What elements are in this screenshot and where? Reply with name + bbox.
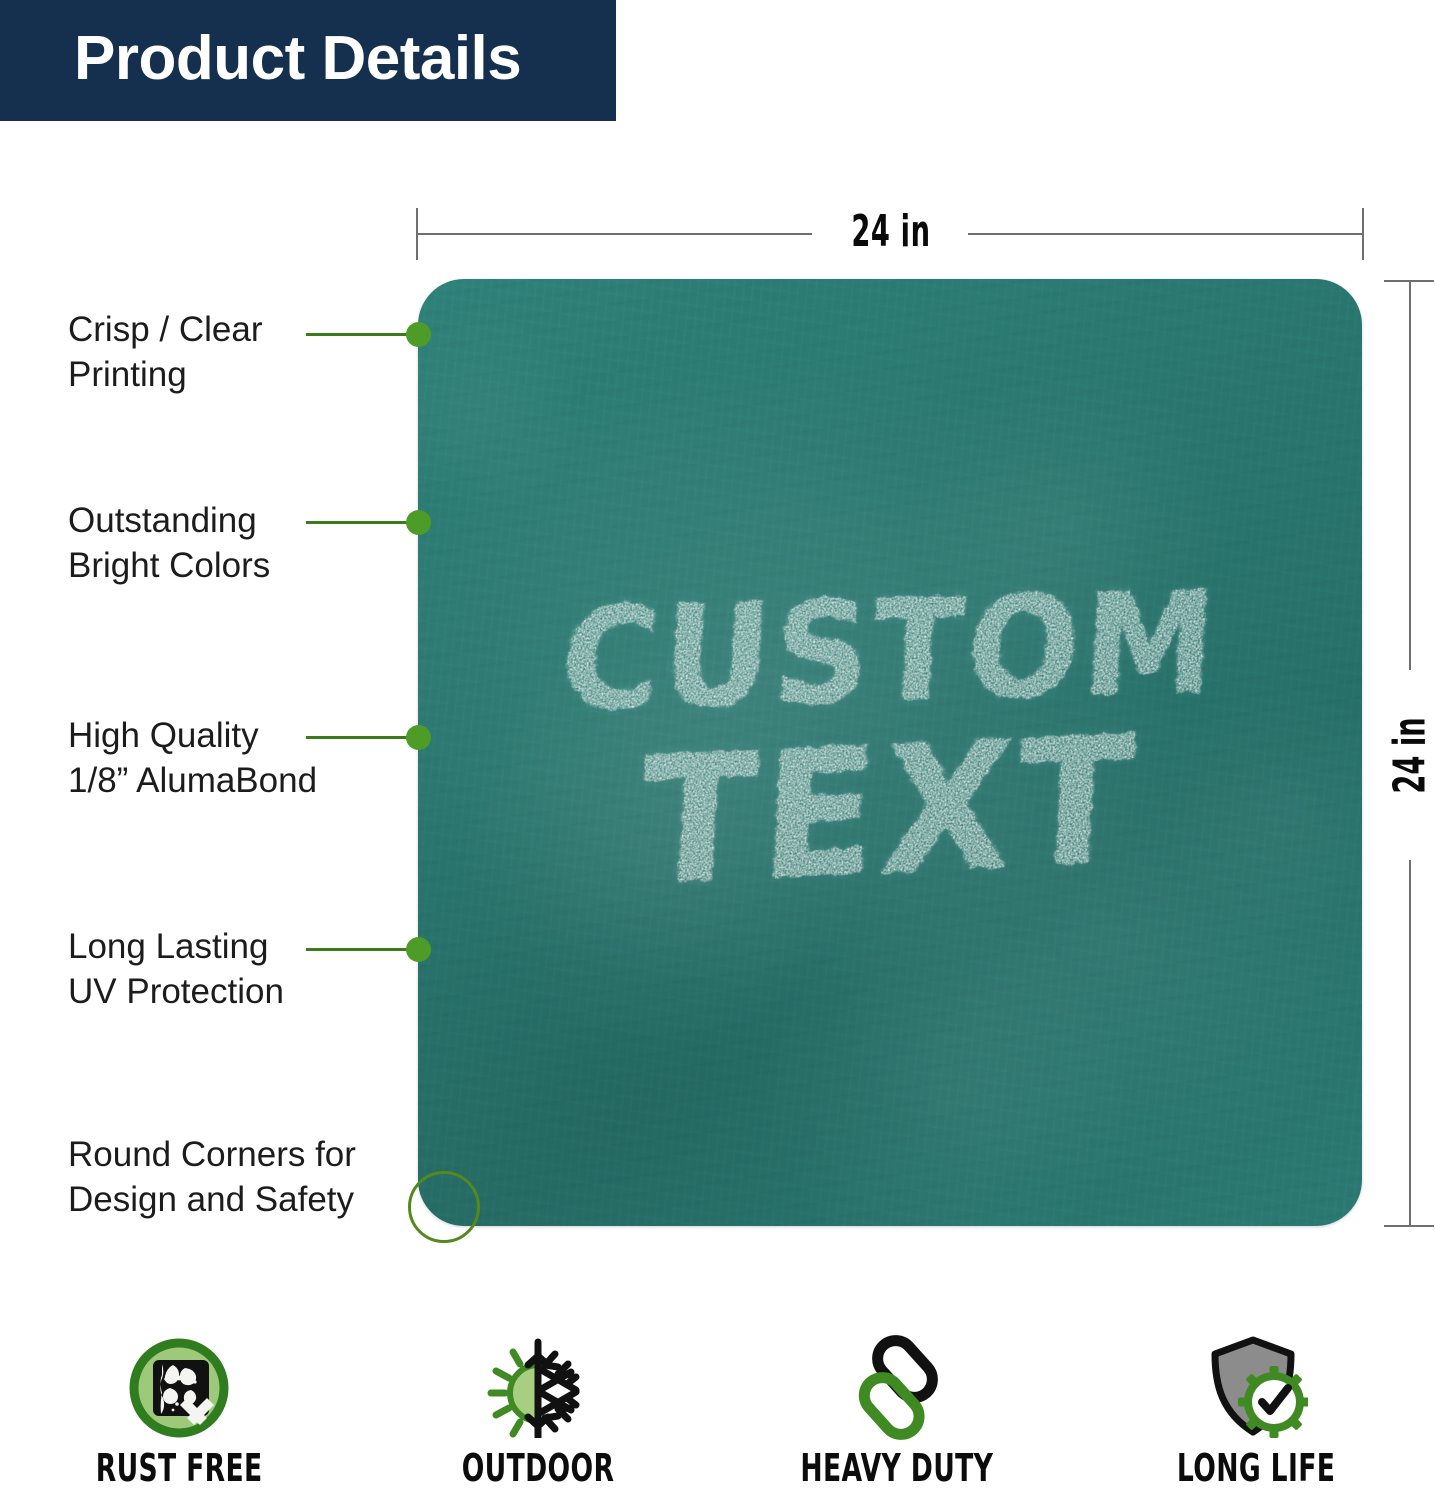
feature-label: HEAVY DUTY bbox=[800, 1446, 993, 1490]
feature-label: OUTDOOR bbox=[462, 1446, 615, 1490]
feature-rust-free: RUST FREE bbox=[0, 1335, 359, 1500]
callout-crisp-clear-printing: Crisp / Clear Printing bbox=[68, 308, 262, 398]
callout-outstanding-bright-colors: Outstanding Bright Colors bbox=[68, 499, 270, 589]
leader-line-3 bbox=[306, 736, 418, 739]
callout-label: Outstanding Bright Colors bbox=[68, 499, 270, 589]
round-corner-highlight-ring bbox=[408, 1171, 480, 1243]
leader-line-1 bbox=[306, 333, 418, 336]
chalkboard-sign: CUSTOM TEXT bbox=[418, 279, 1362, 1226]
leader-line-2 bbox=[306, 521, 418, 524]
dim-tick-right bbox=[1362, 208, 1364, 260]
callout-label: Long Lasting UV Protection bbox=[68, 925, 284, 1015]
callout-label: Crisp / Clear Printing bbox=[68, 308, 262, 398]
dim-label-width: 24 in bbox=[846, 206, 937, 257]
dim-line-height-bottom bbox=[1409, 860, 1411, 1225]
callout-label: High Quality 1/8” AlumaBond bbox=[68, 714, 317, 804]
chalk-text-block: CUSTOM TEXT bbox=[418, 279, 1362, 1226]
callout-high-quality-alumabond: High Quality 1/8” AlumaBond bbox=[68, 714, 317, 804]
feature-label: LONG LIFE bbox=[1176, 1446, 1334, 1490]
leader-dot-1 bbox=[406, 322, 431, 347]
chalk-text-line-2: TEXT bbox=[637, 716, 1144, 907]
leader-dot-3 bbox=[406, 725, 431, 750]
chain-link-icon bbox=[847, 1335, 947, 1440]
feature-heavy-duty: HEAVY DUTY bbox=[718, 1335, 1077, 1500]
sun-snowflake-icon bbox=[483, 1335, 593, 1440]
dim-line-width-left bbox=[416, 233, 812, 235]
feature-outdoor: OUTDOOR bbox=[359, 1335, 718, 1500]
feature-long-life: LONG LIFE bbox=[1076, 1335, 1435, 1500]
dim-line-height-top bbox=[1409, 280, 1411, 670]
product-details-infographic: Product Details 24 in 24 in CUSTOM TEXT … bbox=[0, 0, 1435, 1500]
leader-line-4 bbox=[306, 948, 418, 951]
leader-dot-2 bbox=[406, 510, 431, 535]
header-banner: Product Details bbox=[0, 0, 616, 121]
page-title: Product Details bbox=[0, 28, 521, 90]
feature-label: RUST FREE bbox=[96, 1446, 263, 1490]
leader-dot-4 bbox=[406, 937, 431, 962]
callout-label: Round Corners for Design and Safety bbox=[68, 1133, 356, 1223]
dim-label-height: 24 in bbox=[1385, 710, 1435, 801]
dim-tick-bottom bbox=[1384, 1225, 1434, 1227]
callout-round-corners: Round Corners for Design and Safety bbox=[68, 1133, 356, 1223]
dim-line-width-right bbox=[968, 233, 1362, 235]
rust-free-icon bbox=[129, 1335, 229, 1440]
feature-icons-row: RUST FREE bbox=[0, 1335, 1435, 1500]
callout-long-lasting-uv-protection: Long Lasting UV Protection bbox=[68, 925, 284, 1015]
shield-clock-icon bbox=[1203, 1335, 1308, 1440]
